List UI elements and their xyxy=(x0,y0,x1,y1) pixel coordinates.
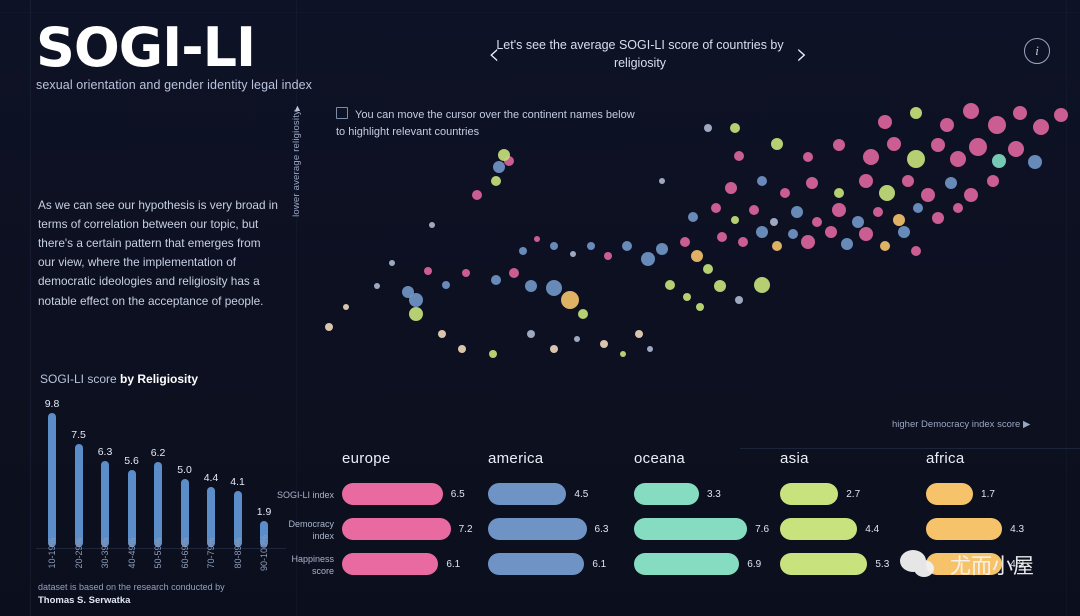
scatter-bubble[interactable] xyxy=(852,216,864,228)
metric-bar[interactable] xyxy=(342,553,438,575)
bar-value-label: 6.2 xyxy=(151,447,166,459)
continent-column-header-oceana[interactable]: oceana xyxy=(634,450,685,467)
scatter-bubble[interactable] xyxy=(893,214,905,226)
scatter-bubble[interactable] xyxy=(656,243,668,255)
bar xyxy=(154,462,162,547)
scatter-bubble[interactable] xyxy=(825,226,837,238)
left-divider xyxy=(30,0,31,616)
info-icon[interactable]: i xyxy=(1024,38,1050,64)
metric-bar[interactable] xyxy=(780,518,857,540)
scatter-bubble[interactable] xyxy=(730,123,740,133)
scatter-bubble[interactable] xyxy=(902,175,914,187)
scatter-bubble[interactable] xyxy=(964,188,978,202)
scatter-bubble[interactable] xyxy=(992,154,1006,168)
scatter-bubble[interactable] xyxy=(863,149,879,165)
app-logo: SOGI-LI sexual orientation and gender id… xyxy=(36,22,312,92)
scatter-bubble[interactable] xyxy=(757,176,767,186)
scatter-bubble[interactable] xyxy=(806,177,818,189)
metric-bar[interactable] xyxy=(634,553,739,575)
credit-author: Thomas S. Serwatka xyxy=(38,595,130,606)
scatter-bubble[interactable] xyxy=(834,188,844,198)
scatter-bubble[interactable] xyxy=(801,235,815,249)
bar-category-label: 30-39% xyxy=(100,537,110,568)
scatter-bubble[interactable] xyxy=(527,330,535,338)
bar-category-label: 70-79% xyxy=(206,537,216,568)
scatter-bubble[interactable] xyxy=(879,185,895,201)
scatter-bubble[interactable] xyxy=(409,293,423,307)
bar-column[interactable]: 9.810-19% xyxy=(40,392,64,547)
scatter-bubble[interactable] xyxy=(691,250,703,262)
metric-bar[interactable] xyxy=(342,483,443,505)
bar-value-label: 5.0 xyxy=(177,464,192,476)
continent-column-header-america[interactable]: america xyxy=(488,450,543,467)
scatter-bubble[interactable] xyxy=(833,139,845,151)
scatter-bubble[interactable] xyxy=(604,252,612,260)
bar-category-label: 20-29% xyxy=(74,537,84,568)
scatter-bubble[interactable] xyxy=(803,152,813,162)
scatter-bubble[interactable] xyxy=(458,345,466,353)
metric-bar[interactable] xyxy=(488,553,584,575)
bar-chart-title-bold: by Religiosity xyxy=(120,372,198,386)
scatter-bubble[interactable] xyxy=(940,118,954,132)
scatter-bubble[interactable] xyxy=(509,268,519,278)
scatter-bubble[interactable] xyxy=(953,203,963,213)
scatter-bubble[interactable] xyxy=(389,260,395,266)
scatter-bubble[interactable] xyxy=(635,330,643,338)
scatter-bubble[interactable] xyxy=(873,207,883,217)
scatter-bubble[interactable] xyxy=(749,205,759,215)
bar-category-label: 80-89% xyxy=(233,537,243,568)
scatter-bubble[interactable] xyxy=(1028,155,1042,169)
bar xyxy=(48,413,56,547)
scatter-bubble[interactable] xyxy=(489,350,497,358)
x-axis-label: higher Democracy index score ▶ xyxy=(892,419,1030,430)
metric-bar[interactable] xyxy=(342,518,451,540)
hint-checkbox-icon[interactable] xyxy=(336,107,348,119)
scatter-bubble[interactable] xyxy=(859,174,873,188)
scatter-bubble[interactable] xyxy=(731,216,739,224)
scatter-bubble[interactable] xyxy=(1013,106,1027,120)
scatter-bubble[interactable] xyxy=(898,226,910,238)
scatter-bubble[interactable] xyxy=(534,236,540,242)
scatter-bubble[interactable] xyxy=(771,138,783,150)
metric-bar[interactable] xyxy=(780,483,838,505)
metric-row-label: SOGI-LI index xyxy=(272,489,334,501)
metric-row-label: Happiness score xyxy=(272,553,334,577)
metric-bar[interactable] xyxy=(780,553,867,575)
next-slide-arrow[interactable]: › xyxy=(796,40,808,70)
continent-column-header-europe[interactable]: europe xyxy=(342,450,391,467)
scatter-bubble[interactable] xyxy=(950,151,966,167)
scatter-bubble[interactable] xyxy=(963,103,979,119)
scatter-bubble[interactable] xyxy=(424,267,432,275)
bar-value-label: 9.8 xyxy=(45,398,60,410)
bar xyxy=(101,461,109,547)
watermark-text: 尤而小屋 xyxy=(950,550,1034,580)
bar-category-label: 10-19% xyxy=(47,537,57,568)
scatter-bubble[interactable] xyxy=(913,203,923,213)
scatter-bubble[interactable] xyxy=(519,247,527,255)
scatter-bubble[interactable] xyxy=(772,241,782,251)
bar-column[interactable]: 6.330-39% xyxy=(93,392,117,547)
scatter-bubble[interactable] xyxy=(859,227,873,241)
table-divider xyxy=(740,448,1080,449)
scatter-bubble[interactable] xyxy=(620,351,626,357)
top-rule xyxy=(0,12,1080,13)
scatter-bubble[interactable] xyxy=(600,340,608,348)
scatter-bubble[interactable] xyxy=(969,138,987,156)
scatter-bubble[interactable] xyxy=(770,218,778,226)
wechat-icon xyxy=(900,550,944,580)
watermark: 尤而小屋 xyxy=(900,550,1034,580)
metric-value: 3.3 xyxy=(707,489,721,500)
bar-chart-title: SOGI-LI score by Religiosity xyxy=(40,372,198,386)
scatter-bubble[interactable] xyxy=(525,280,537,292)
bar-chart-axis xyxy=(36,548,286,549)
metric-value: 1.7 xyxy=(981,489,995,500)
scatter-bubble[interactable] xyxy=(711,203,721,213)
scatter-bubble[interactable] xyxy=(641,252,655,266)
bar-category-label: 90-100% xyxy=(259,535,269,571)
scatter-bubble[interactable] xyxy=(714,280,726,292)
scatter-bubble[interactable] xyxy=(931,138,945,152)
metric-bar[interactable] xyxy=(926,518,1002,540)
scatter-bubble[interactable] xyxy=(717,232,727,242)
scatter-bubble[interactable] xyxy=(550,242,558,250)
bar xyxy=(75,444,83,547)
metric-value: 6.1 xyxy=(592,559,606,570)
bar-column[interactable]: 5.640-49% xyxy=(120,392,144,547)
scatter-bubble[interactable] xyxy=(735,296,743,304)
bar-column[interactable]: 4.180-89% xyxy=(226,392,250,547)
scatter-bubble[interactable] xyxy=(812,217,822,227)
scatter-bubble[interactable] xyxy=(1054,108,1068,122)
scatter-bubble[interactable] xyxy=(780,188,790,198)
scatter-bubble[interactable] xyxy=(462,269,470,277)
bar-value-label: 7.5 xyxy=(71,429,86,441)
scatter-bubble[interactable] xyxy=(647,346,653,352)
bar-value-label: 6.3 xyxy=(98,446,113,458)
scatter-bubble[interactable] xyxy=(429,222,435,228)
scatter-bubble[interactable] xyxy=(738,237,748,247)
scatter-bubble[interactable] xyxy=(932,212,944,224)
scatter-bubble[interactable] xyxy=(945,177,957,189)
scatter-bubble[interactable] xyxy=(788,229,798,239)
scatter-bubble[interactable] xyxy=(1033,119,1049,135)
bar-column[interactable]: 5.060-69% xyxy=(173,392,197,547)
bar-value-label: 4.1 xyxy=(230,476,245,488)
scatter-bubble[interactable] xyxy=(988,116,1006,134)
country-scatter-plot[interactable] xyxy=(300,96,1070,436)
bar-column[interactable]: 4.470-79% xyxy=(199,392,223,547)
metric-value: 6.3 xyxy=(595,524,609,535)
metric-value: 6.9 xyxy=(747,559,761,570)
metric-value: 5.3 xyxy=(875,559,889,570)
scatter-bubble[interactable] xyxy=(832,203,846,217)
scatter-bubble[interactable] xyxy=(910,107,922,119)
scatter-bubble[interactable] xyxy=(791,206,803,218)
scatter-bubble[interactable] xyxy=(841,238,853,250)
scatter-bubble[interactable] xyxy=(703,264,713,274)
scatter-bubble[interactable] xyxy=(587,242,595,250)
dataset-credit: dataset is based on the research conduct… xyxy=(38,581,225,608)
metric-bar[interactable] xyxy=(634,483,699,505)
scatter-bubble[interactable] xyxy=(665,280,675,290)
metric-value: 7.2 xyxy=(459,524,473,535)
metric-row-label: Democracy index xyxy=(272,518,334,542)
scatter-bubble[interactable] xyxy=(622,241,632,251)
scatter-bubble[interactable] xyxy=(754,277,770,293)
metric-value: 6.5 xyxy=(451,489,465,500)
bar-column[interactable]: 7.520-29% xyxy=(67,392,91,547)
bar-category-label: 40-49% xyxy=(127,537,137,568)
bar-category-label: 50-59% xyxy=(153,537,163,568)
bar-column[interactable]: 6.250-59% xyxy=(146,392,170,547)
scatter-bubble[interactable] xyxy=(574,336,580,342)
scatter-bubble[interactable] xyxy=(987,175,999,187)
scatter-bubble[interactable] xyxy=(442,281,450,289)
scatter-bubble[interactable] xyxy=(734,151,744,161)
scatter-bubble[interactable] xyxy=(683,293,691,301)
metric-value: 6.1 xyxy=(446,559,460,570)
hint-text: You can move the cursor over the contine… xyxy=(336,109,635,138)
scatter-bubble[interactable] xyxy=(438,330,446,338)
intro-paragraph: As we can see our hypothesis is very bro… xyxy=(38,196,278,311)
logo-subtitle: sexual orientation and gender identity l… xyxy=(36,78,312,92)
scatter-bubble[interactable] xyxy=(472,190,482,200)
scatter-bubble[interactable] xyxy=(546,280,562,296)
scatter-bubble[interactable] xyxy=(550,345,558,353)
scatter-bubble[interactable] xyxy=(493,161,505,173)
scatter-bubble[interactable] xyxy=(578,309,588,319)
scatter-bubble[interactable] xyxy=(343,304,349,310)
scatter-bubble[interactable] xyxy=(756,226,768,238)
bar-category-label: 60-69% xyxy=(180,537,190,568)
interaction-hint: You can move the cursor over the contine… xyxy=(336,107,636,140)
logo-wordmark: SOGI-LI xyxy=(36,22,312,73)
scatter-bubble[interactable] xyxy=(570,251,576,257)
bar-value-label: 1.9 xyxy=(257,506,272,518)
scatter-bubble[interactable] xyxy=(907,150,925,168)
scatter-bubble[interactable] xyxy=(325,323,333,331)
metric-value: 4.5 xyxy=(574,489,588,500)
bar-value-label: 4.4 xyxy=(204,472,219,484)
metric-value: 4.4 xyxy=(865,524,879,535)
metric-bar[interactable] xyxy=(488,483,566,505)
scatter-bubble[interactable] xyxy=(409,307,423,321)
scatter-bubble[interactable] xyxy=(887,137,901,151)
credit-line-1: dataset is based on the research conduct… xyxy=(38,582,225,592)
metric-value: 7.6 xyxy=(755,524,769,535)
scatter-bubble[interactable] xyxy=(491,176,501,186)
scatter-bubble[interactable] xyxy=(491,275,501,285)
dashboard-root: SOGI-LI sexual orientation and gender id… xyxy=(0,0,1080,616)
scatter-bubble[interactable] xyxy=(1008,141,1024,157)
bar-value-label: 5.6 xyxy=(124,455,139,467)
scatter-bubble[interactable] xyxy=(696,303,704,311)
scatter-bubble[interactable] xyxy=(880,241,890,251)
scatter-bubble[interactable] xyxy=(921,188,935,202)
scatter-bubble[interactable] xyxy=(704,124,712,132)
metric-bar[interactable] xyxy=(488,518,587,540)
continent-column-header-asia[interactable]: asia xyxy=(780,450,809,467)
slide-headline: Let's see the average SOGI-LI score of c… xyxy=(490,36,790,72)
scatter-bubble[interactable] xyxy=(659,178,665,184)
metric-bar[interactable] xyxy=(634,518,747,540)
religiosity-bar-chart: 9.810-19%7.520-29%6.330-39%5.640-49%6.25… xyxy=(40,392,280,547)
scatter-bubble[interactable] xyxy=(374,283,380,289)
scatter-bubble[interactable] xyxy=(878,115,892,129)
scatter-bubble[interactable] xyxy=(561,291,579,309)
scatter-bubble[interactable] xyxy=(911,246,921,256)
bar xyxy=(128,470,136,547)
metric-value: 4.3 xyxy=(1010,524,1024,535)
scatter-bubble[interactable] xyxy=(688,212,698,222)
scatter-bubble[interactable] xyxy=(680,237,690,247)
scatter-bubble[interactable] xyxy=(725,182,737,194)
bar-chart-title-plain: SOGI-LI score xyxy=(40,372,120,386)
metric-bar[interactable] xyxy=(926,483,973,505)
metric-value: 2.7 xyxy=(846,489,860,500)
continent-column-header-africa[interactable]: africa xyxy=(926,450,964,467)
